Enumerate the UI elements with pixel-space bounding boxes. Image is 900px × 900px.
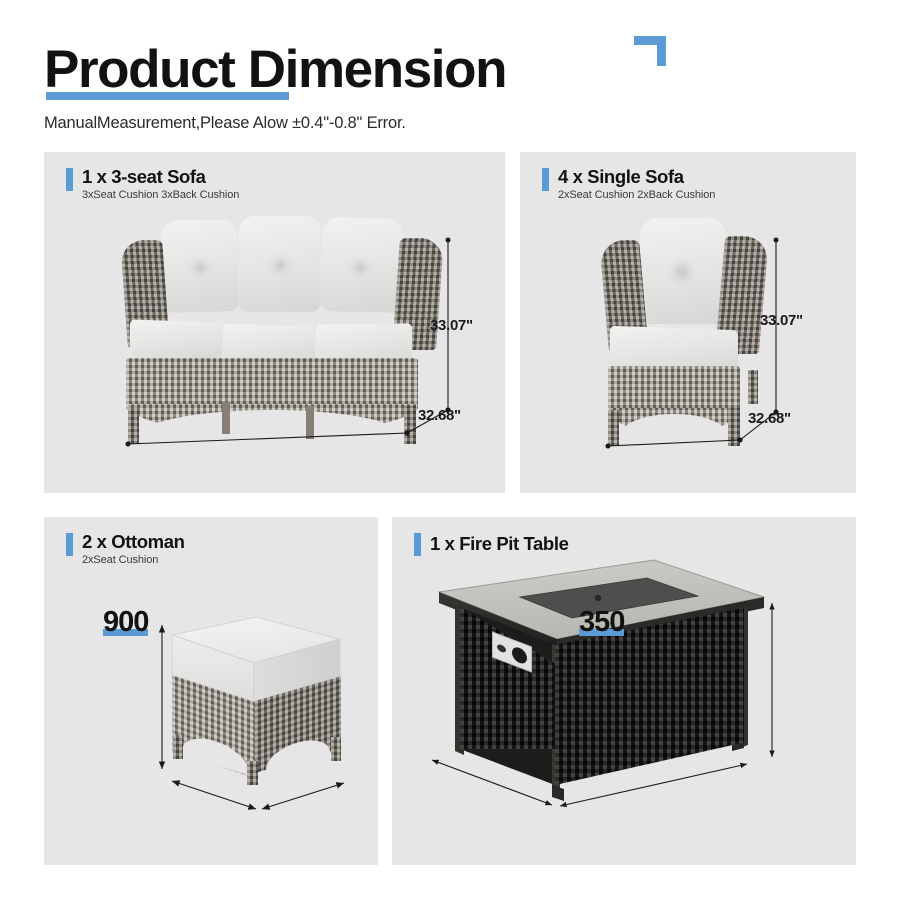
dimension-depth-label: 32.68" [418, 407, 461, 424]
page-title: Product Dimension [44, 40, 506, 100]
dimension-depth-label: 32.68" [748, 410, 791, 427]
product-dimension-page: Product Dimension ManualMeasurement,Plea… [0, 0, 900, 900]
illustration-ottoman: 16.93" 22.44" 22.44" [44, 517, 378, 865]
card-single-sofa: 4 x Single Sofa 2xSeat Cushion 2xBack Cu… [520, 152, 856, 493]
page-header: Product Dimension ManualMeasurement,Plea… [44, 40, 856, 102]
corner-bracket-icon [634, 36, 666, 66]
card-fire-pit-table: 1 x Fire Pit Table [392, 517, 856, 865]
title-row: Product Dimension [44, 40, 856, 102]
dimension-height-label: 33.07" [430, 317, 473, 334]
illustration-fire-pit-table: 54" 22.44" 25.2" [392, 517, 856, 865]
page-subtitle: ManualMeasurement,Please Alow ±0.4"-0.8"… [44, 114, 406, 133]
card-three-seat-sofa: 1 x 3-seat Sofa 3xSeat Cushion 3xBack Cu… [44, 152, 505, 493]
title-underline-accent [46, 92, 289, 100]
illustration-single-sofa: 28.35" 32.68" 33.07" [520, 152, 856, 493]
illustration-three-seat-sofa: 72.05" 32.68" 33.07" [44, 152, 505, 493]
dimension-lines-ottoman [44, 517, 378, 865]
weight-number-wrap: 350 [579, 607, 624, 637]
weight-value: 350 [579, 607, 624, 637]
card-ottoman: 2 x Ottoman 2xSeat Cushion [44, 517, 378, 865]
weight-number-wrap: 900 [103, 607, 148, 637]
dimension-height-label: 33.07" [760, 312, 803, 329]
dimension-lines-chair [520, 152, 856, 493]
ignition-knob-icon [512, 645, 527, 666]
weight-value: 900 [103, 607, 148, 637]
corner-bracket-vertical [657, 36, 666, 66]
ignition-button-icon [497, 643, 506, 653]
